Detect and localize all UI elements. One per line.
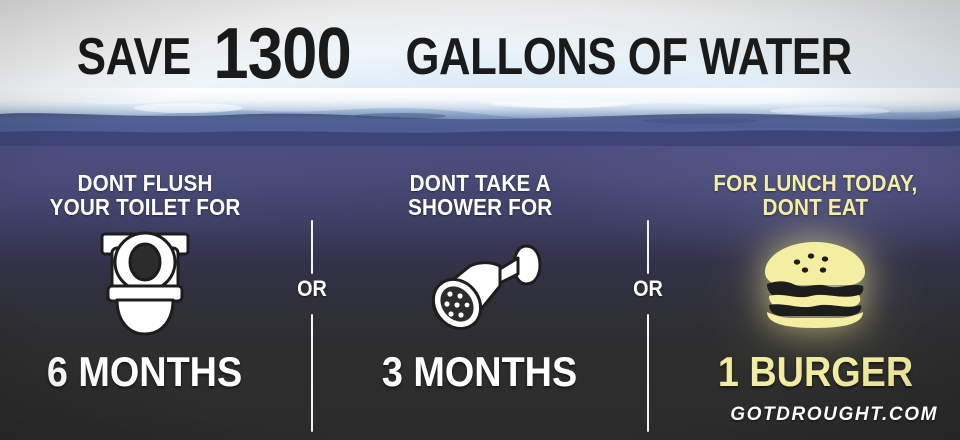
column-toilet-heading-line2: YOUR TOILET FOR: [49, 196, 240, 220]
headline-word-gallons-of-water: GALLONS OF WATER: [405, 31, 851, 83]
separator-line-bottom: [311, 314, 313, 432]
separator-or-1: OR: [289, 146, 335, 440]
column-toilet-heading-line1: DONT FLUSH: [77, 170, 212, 196]
infographic-poster: SAVE 1300 GALLONS OF WATER: [0, 0, 960, 440]
column-burger-duration: 1 BURGER: [718, 348, 913, 396]
separator-line-top: [311, 220, 313, 274]
column-burger: FOR LUNCH TODAY, DONT EAT: [671, 146, 960, 440]
toilet-icon: [86, 228, 204, 340]
column-toilet-heading: DONT FLUSH YOUR TOILET FOR: [49, 172, 240, 220]
separator-line-bottom: [647, 314, 649, 432]
column-shower-duration: 3 MONTHS: [382, 348, 577, 396]
column-toilet-duration: 6 MONTHS: [47, 348, 242, 396]
column-toilet: DONT FLUSH YOUR TOILET FOR 6 MONTHS: [0, 146, 289, 440]
column-shower-icon-wrap: [335, 220, 624, 348]
column-burger-heading-line2: DONT EAT: [713, 196, 917, 220]
comparison-columns: DONT FLUSH YOUR TOILET FOR 6 MONTHS: [0, 146, 960, 440]
page-title: SAVE 1300 GALLONS OF WATER: [0, 14, 960, 86]
column-burger-icon-wrap: [671, 220, 960, 348]
headline-word-save: SAVE: [77, 31, 191, 83]
column-shower-heading-line1: DONT TAKE A: [409, 170, 550, 196]
column-shower: DONT TAKE A SHOWER FOR: [335, 146, 624, 440]
water-wave-graphic: [0, 88, 960, 152]
water-surface-band: [0, 88, 960, 152]
column-shower-heading: DONT TAKE A SHOWER FOR: [408, 172, 552, 220]
separator-or-label: OR: [297, 276, 327, 302]
separator-or-label: OR: [633, 276, 663, 302]
hamburger-icon: [753, 232, 877, 336]
footer-website-url[interactable]: GOTDROUGHT.COM: [730, 404, 938, 426]
column-toilet-icon-wrap: [0, 220, 289, 348]
column-shower-heading-line2: SHOWER FOR: [408, 196, 552, 220]
column-burger-heading-line1: FOR LUNCH TODAY,: [713, 170, 917, 196]
headline-number-gallons: 1300: [214, 18, 351, 90]
separator-or-2: OR: [625, 146, 671, 440]
column-burger-heading: FOR LUNCH TODAY, DONT EAT: [713, 172, 917, 220]
separator-line-top: [647, 220, 649, 274]
shower-head-icon: [414, 228, 546, 340]
